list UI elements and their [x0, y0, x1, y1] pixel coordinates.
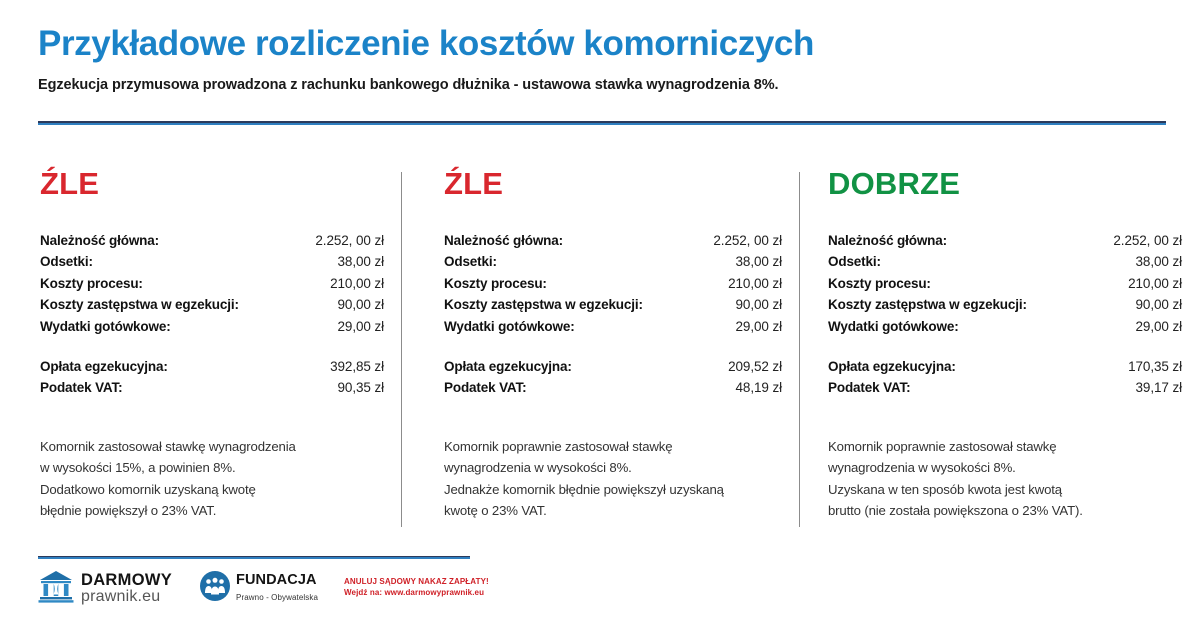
cost-value: 90,00 zł: [736, 294, 782, 315]
cost-value: 29,00 zł: [338, 316, 384, 337]
page-title: Przykładowe rozliczenie kosztów komornic…: [38, 26, 1168, 63]
table-row: Podatek VAT: 39,17 zł: [828, 377, 1182, 398]
logo-fundacja[interactable]: FUNDACJA Prawno - Obywatelska: [200, 571, 318, 606]
cost-value: 39,17 zł: [1136, 377, 1182, 398]
cost-label: Koszty procesu:: [828, 273, 931, 294]
cost-label: Odsetki:: [444, 251, 497, 272]
explanation-note-3: Komornik poprawnie zastosował stawkę wyn…: [828, 436, 1182, 522]
cost-value: 29,00 zł: [1136, 316, 1182, 337]
cost-value: 38,00 zł: [338, 251, 384, 272]
verdict-badge-1: ŹLE: [40, 168, 384, 199]
logo-darmowy-line2: prawnik.eu: [81, 588, 160, 605]
note-line: błędnie powiększył o 23% VAT.: [40, 500, 384, 522]
cost-label: Opłata egzekucyjna:: [444, 356, 572, 377]
cost-label: Odsetki:: [40, 251, 93, 272]
table-row: Należność główna: 2.252, 00 zł: [828, 230, 1182, 251]
table-row: Odsetki: 38,00 zł: [828, 251, 1182, 272]
cost-label: Koszty procesu:: [40, 273, 143, 294]
header-divider: [38, 121, 1166, 125]
comparison-columns: ŹLE Należność główna: 2.252, 00 zł Odset…: [0, 168, 1200, 538]
verdict-badge-3: DOBRZE: [828, 168, 1182, 199]
explanation-note-2: Komornik poprawnie zastosował stawkę wyn…: [444, 436, 782, 522]
cost-value: 29,00 zł: [736, 316, 782, 337]
cost-value: 48,19 zł: [736, 377, 782, 398]
column-correct: DOBRZE Należność główna: 2.252, 00 zł Od…: [800, 168, 1200, 538]
promo-line1: ANULUJ SĄDOWY NAKAZ ZAPŁATY!: [344, 577, 489, 588]
explanation-note-1: Komornik zastosował stawkę wynagrodzenia…: [40, 436, 384, 522]
table-row: Koszty procesu: 210,00 zł: [40, 273, 384, 294]
note-line: kwotę o 23% VAT.: [444, 500, 782, 522]
cost-value: 38,00 zł: [736, 251, 782, 272]
cost-label: Należność główna:: [828, 230, 947, 251]
cost-label: Odsetki:: [828, 251, 881, 272]
table-row: Koszty zastępstwa w egzekucji: 90,00 zł: [828, 294, 1182, 315]
table-row: Koszty zastępstwa w egzekucji: 90,00 zł: [40, 294, 384, 315]
column-wrong-2: ŹLE Należność główna: 2.252, 00 zł Odset…: [402, 168, 800, 538]
cost-label: Opłata egzekucyjna:: [40, 356, 168, 377]
table-row: Należność główna: 2.252, 00 zł: [40, 230, 384, 251]
table-row: Wydatki gotówkowe: 29,00 zł: [40, 316, 384, 337]
table-row: Koszty procesu: 210,00 zł: [444, 273, 782, 294]
table-row: Wydatki gotówkowe: 29,00 zł: [828, 316, 1182, 337]
cost-value: 90,35 zł: [338, 377, 384, 398]
cost-value: 210,00 zł: [728, 273, 782, 294]
logo-fundacja-line2: Prawno - Obywatelska: [236, 593, 318, 602]
note-line: Jednakże komornik błędnie powiększył uzy…: [444, 479, 782, 501]
cost-value: 210,00 zł: [330, 273, 384, 294]
row-spacer: [828, 337, 1182, 356]
note-line: Dodatkowo komornik uzyskaną kwotę: [40, 479, 384, 501]
cost-value: 392,85 zł: [330, 356, 384, 377]
verdict-badge-2: ŹLE: [444, 168, 782, 199]
cost-value: 209,52 zł: [728, 356, 782, 377]
cost-label: Podatek VAT:: [444, 377, 526, 398]
row-spacer: [40, 337, 384, 356]
cost-value: 210,00 zł: [1128, 273, 1182, 294]
cost-value: 90,00 zł: [338, 294, 384, 315]
cost-label: Wydatki gotówkowe:: [444, 316, 575, 337]
cost-label: Koszty zastępstwa w egzekucji:: [444, 294, 643, 315]
cost-list-1: Należność główna: 2.252, 00 zł Odsetki: …: [40, 230, 384, 399]
cost-label: Wydatki gotówkowe:: [40, 316, 171, 337]
cost-value: 38,00 zł: [1136, 251, 1182, 272]
table-row: Opłata egzekucyjna: 392,85 zł: [40, 356, 384, 377]
logo-darmowy-line1: DARMOWY: [81, 571, 172, 589]
cost-label: Podatek VAT:: [40, 377, 122, 398]
footer: DARMOWY prawnik.eu FUNDACJA Prawno - Oby…: [38, 564, 508, 612]
cost-list-3: Należność główna: 2.252, 00 zł Odsetki: …: [828, 230, 1182, 399]
cost-label: Podatek VAT:: [828, 377, 910, 398]
cost-label: Opłata egzekucyjna:: [828, 356, 956, 377]
logo-darmowy-text: DARMOWY prawnik.eu: [81, 572, 172, 605]
cost-label: Koszty zastępstwa w egzekucji:: [40, 294, 239, 315]
note-line: wynagrodzenia w wysokości 8%.: [444, 457, 782, 479]
table-row: Odsetki: 38,00 zł: [444, 251, 782, 272]
logo-darmowy-prawnik[interactable]: DARMOWY prawnik.eu: [38, 569, 172, 608]
table-row: Odsetki: 38,00 zł: [40, 251, 384, 272]
courthouse-icon: [38, 569, 74, 608]
table-row: Podatek VAT: 90,35 zł: [40, 377, 384, 398]
note-line: brutto (nie została powiększona o 23% VA…: [828, 500, 1182, 522]
cost-label: Koszty procesu:: [444, 273, 547, 294]
promo-line2: Wejdź na: www.darmowyprawnik.eu: [344, 588, 489, 599]
row-spacer: [444, 337, 782, 356]
people-circle-icon: [200, 571, 230, 606]
table-row: Należność główna: 2.252, 00 zł: [444, 230, 782, 251]
note-line: Komornik poprawnie zastosował stawkę: [828, 436, 1182, 458]
promo-callout[interactable]: ANULUJ SĄDOWY NAKAZ ZAPŁATY! Wejdź na: w…: [344, 577, 489, 599]
cost-value: 2.252, 00 zł: [1113, 230, 1182, 251]
note-line: wynagrodzenia w wysokości 8%.: [828, 457, 1182, 479]
table-row: Opłata egzekucyjna: 170,35 zł: [828, 356, 1182, 377]
note-line: Komornik zastosował stawkę wynagrodzenia: [40, 436, 384, 458]
cost-label: Należność główna:: [40, 230, 159, 251]
header: Przykładowe rozliczenie kosztów komornic…: [38, 26, 1168, 93]
table-row: Opłata egzekucyjna: 209,52 zł: [444, 356, 782, 377]
cost-value: 90,00 zł: [1136, 294, 1182, 315]
infographic-page: Przykładowe rozliczenie kosztów komornic…: [0, 0, 1200, 629]
footer-divider: [38, 556, 470, 559]
note-line: Uzyskana w ten sposób kwota jest kwotą: [828, 479, 1182, 501]
table-row: Wydatki gotówkowe: 29,00 zł: [444, 316, 782, 337]
note-line: Komornik poprawnie zastosował stawkę: [444, 436, 782, 458]
table-row: Podatek VAT: 48,19 zł: [444, 377, 782, 398]
cost-value: 2.252, 00 zł: [713, 230, 782, 251]
cost-list-2: Należność główna: 2.252, 00 zł Odsetki: …: [444, 230, 782, 399]
table-row: Koszty zastępstwa w egzekucji: 90,00 zł: [444, 294, 782, 315]
cost-label: Koszty zastępstwa w egzekucji:: [828, 294, 1027, 315]
cost-label: Należność główna:: [444, 230, 563, 251]
note-line: w wysokości 15%, a powinien 8%.: [40, 457, 384, 479]
cost-value: 2.252, 00 zł: [315, 230, 384, 251]
column-wrong-1: ŹLE Należność główna: 2.252, 00 zł Odset…: [0, 168, 402, 538]
cost-value: 170,35 zł: [1128, 356, 1182, 377]
logo-fundacja-text: FUNDACJA Prawno - Obywatelska: [236, 572, 318, 604]
logo-fundacja-line1: FUNDACJA: [236, 572, 317, 588]
cost-label: Wydatki gotówkowe:: [828, 316, 959, 337]
page-subtitle: Egzekucja przymusowa prowadzona z rachun…: [38, 77, 1168, 93]
table-row: Koszty procesu: 210,00 zł: [828, 273, 1182, 294]
